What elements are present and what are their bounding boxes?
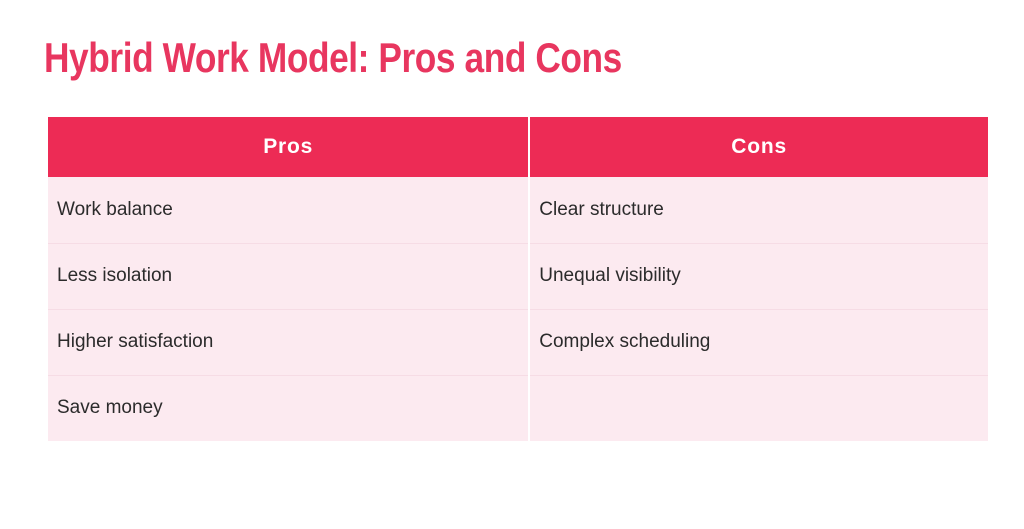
cell-cons-empty <box>529 375 988 441</box>
cell-cons: Complex scheduling <box>529 309 988 375</box>
cell-pros: Work balance <box>48 177 529 243</box>
cell-cons: Clear structure <box>529 177 988 243</box>
cell-text: Complex scheduling <box>539 331 988 353</box>
table-row: Work balance Clear structure <box>48 177 988 243</box>
cell-text: Work balance <box>57 199 528 221</box>
table-header: Pros Cons <box>48 117 988 177</box>
pros-cons-table-container: Pros Cons Work balance Clear structure L… <box>48 117 988 441</box>
cell-cons: Unequal visibility <box>529 243 988 309</box>
table-row: Less isolation Unequal visibility <box>48 243 988 309</box>
cell-pros: Less isolation <box>48 243 529 309</box>
page-title: Hybrid Work Model: Pros and Cons <box>44 34 622 82</box>
column-header-cons: Cons <box>529 117 988 177</box>
table-header-row: Pros Cons <box>48 117 988 177</box>
cell-pros: Higher satisfaction <box>48 309 529 375</box>
slide-canvas: Hybrid Work Model: Pros and Cons Pros Co… <box>0 0 1024 529</box>
table-body: Work balance Clear structure Less isolat… <box>48 177 988 441</box>
table-row: Higher satisfaction Complex scheduling <box>48 309 988 375</box>
cell-text: Clear structure <box>539 199 988 221</box>
pros-cons-table: Pros Cons Work balance Clear structure L… <box>48 117 988 441</box>
cell-text: Unequal visibility <box>539 265 988 287</box>
table-row: Save money <box>48 375 988 441</box>
cell-text: Less isolation <box>57 265 528 287</box>
cell-text: Save money <box>57 397 528 419</box>
column-header-pros: Pros <box>48 117 529 177</box>
cell-pros: Save money <box>48 375 529 441</box>
cell-text: Higher satisfaction <box>57 331 528 353</box>
